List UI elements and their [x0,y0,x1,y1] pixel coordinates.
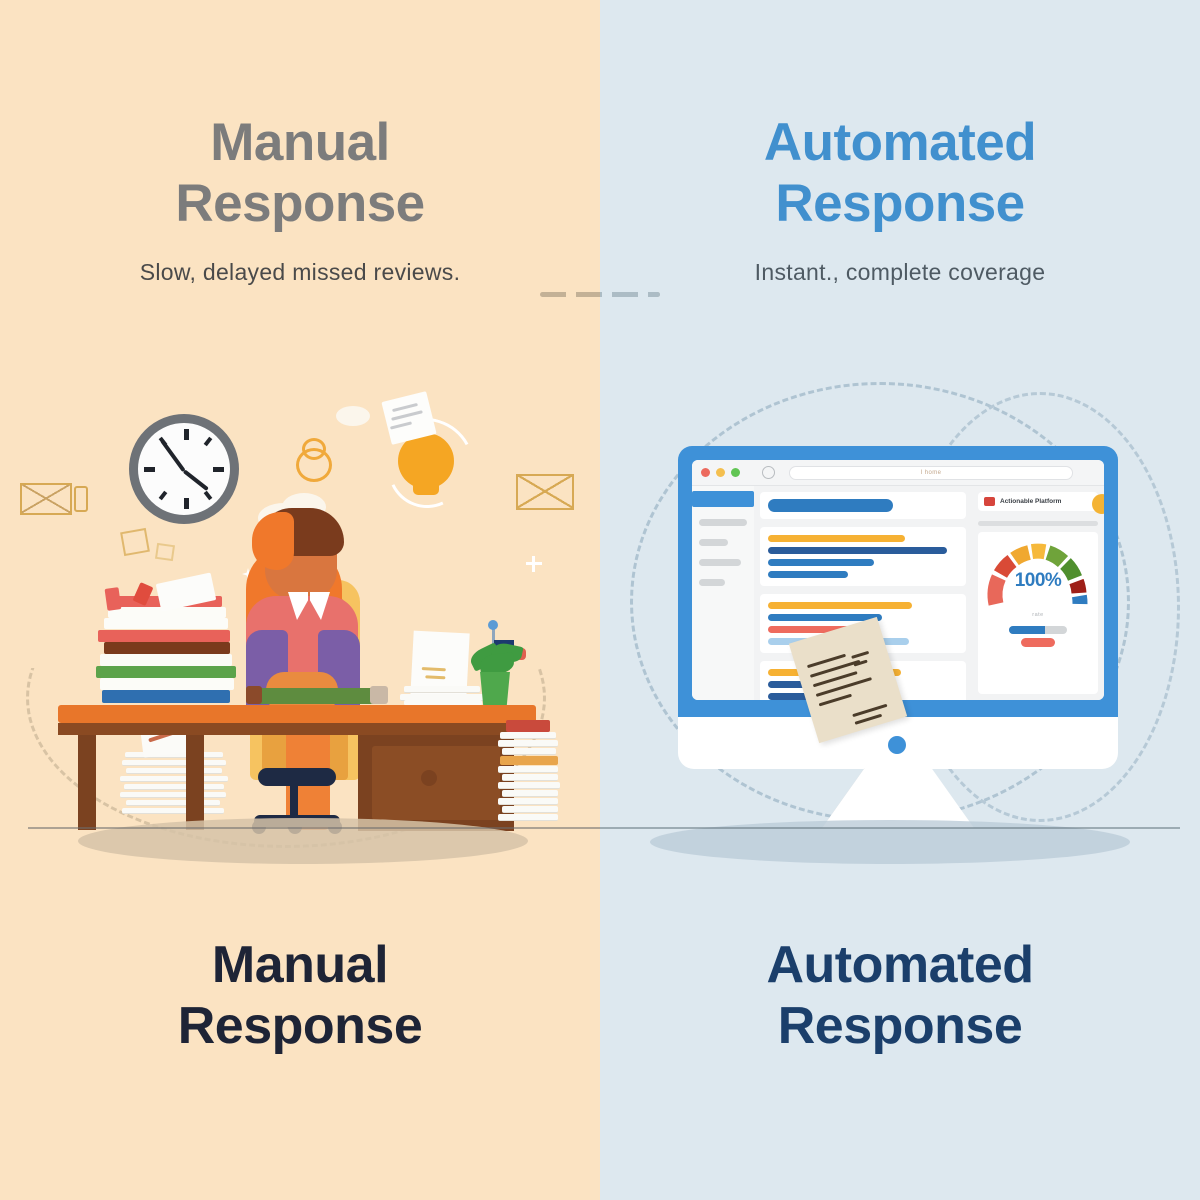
widget-panel: Actionable Platform [972,486,1104,700]
coin-badge-icon [1092,494,1104,514]
plant-icon [478,672,512,708]
minimize-icon[interactable] [716,468,725,477]
subtitle-automated: Instant., complete coverage [600,259,1200,286]
caption-line2: Response [0,996,600,1057]
caption-line1: Automated [600,935,1200,996]
paper-stack [498,740,558,747]
ground-shadow-left [78,818,528,864]
paper-stack [500,732,556,739]
paper-stack [126,800,220,806]
book [500,756,558,765]
header-automated: Automated Response Instant., complete co… [600,112,1200,286]
maximize-icon[interactable] [731,468,740,477]
ground-line-left [28,827,600,829]
paper-stack [122,760,226,766]
desk-leg [78,735,96,830]
widget-subtitle-bar [978,521,1098,526]
desk-top [58,705,536,723]
plus-doodle [532,556,535,572]
envelope-icon [20,483,72,515]
ground-line-right [600,827,1180,829]
card-title-bar [768,535,905,542]
paper-stack [498,766,558,773]
mini-progress-bar [1009,626,1067,634]
page-title-line1: Manual [0,112,600,173]
spring-doodle [302,438,326,460]
gauge-card: 100% rate [978,532,1098,694]
caption-line2: Response [600,996,1200,1057]
caption-line1: Manual [0,935,600,996]
small-card-doodle [74,486,88,512]
page-title-line2: Response [600,173,1200,234]
paper-stack [498,782,560,789]
book [100,654,232,666]
sidebar-item[interactable] [699,559,741,566]
gauge-sublabel: rate [1032,612,1043,618]
book [104,618,228,629]
paper-stack [502,748,556,755]
page-title-line1: Automated [600,112,1200,173]
card-title-bar [768,602,912,609]
book [98,630,230,642]
card-content-bar [768,559,874,566]
paper-stack [502,774,558,781]
sidebar-item[interactable] [699,519,747,526]
paper-stack [498,798,558,805]
book [104,642,230,654]
close-icon[interactable] [701,468,710,477]
widget-title: Actionable Platform [1000,498,1061,505]
book [100,678,234,690]
widget-icon [984,497,995,506]
header-manual: Manual Response Slow, delayed missed rev… [0,112,600,286]
desk-edge [58,723,536,735]
widget-header: Actionable Platform [978,492,1098,511]
url-bar[interactable]: I home [789,466,1073,480]
gauge-chart: 100% [985,542,1091,606]
book [506,720,550,732]
list-item[interactable] [760,527,966,586]
paper-stack [502,806,558,813]
page-title: Automated Response [600,112,1200,235]
caption-automated: Automated Response [600,935,1200,1057]
desk-drawer-face [372,746,500,820]
paper-stack [498,814,558,821]
paper-stack [126,768,222,774]
paper-stack [404,686,480,693]
card-content-bar [768,547,947,554]
action-button[interactable] [1021,638,1055,647]
search-input[interactable] [768,499,893,512]
book [102,690,230,703]
book [96,666,236,678]
card-content-bar [768,571,848,578]
search-card [760,492,966,519]
gauge-value: 100% [985,570,1091,592]
hair-fringe [252,512,294,570]
book-end [370,686,388,704]
caption-manual: Manual Response [0,935,600,1057]
comparison-infographic: I home [0,0,1200,1200]
book [252,688,380,704]
page-title-line2: Response [0,173,600,234]
desk-leg [186,735,204,830]
browser-body: Actionable Platform [692,486,1104,700]
paper-stack [120,792,226,798]
bookmark [105,587,122,611]
paper-stack [502,790,558,797]
reload-icon[interactable] [762,466,775,479]
monitor-screen: I home [692,460,1104,700]
sidebar-item[interactable] [699,539,728,546]
thought-bubble [336,406,370,426]
monitor-power-dot [888,736,906,754]
small-square-doodle [120,528,150,556]
paper-stack [120,776,228,782]
page-title: Manual Response [0,112,600,235]
flag-dot [488,620,498,630]
sidebar-item[interactable] [699,579,725,586]
paper-stack [122,808,224,814]
clock-icon [129,414,239,524]
envelope-icon [516,474,574,510]
small-square-doodle [155,543,175,561]
paper-stack [124,784,224,790]
subtitle-manual: Slow, delayed missed reviews. [0,259,600,286]
app-sidebar [692,486,754,700]
drawer-knob [421,770,437,786]
book-end [246,686,262,704]
browser-toolbar: I home [692,460,1104,486]
sidebar-item-active[interactable] [692,491,754,507]
